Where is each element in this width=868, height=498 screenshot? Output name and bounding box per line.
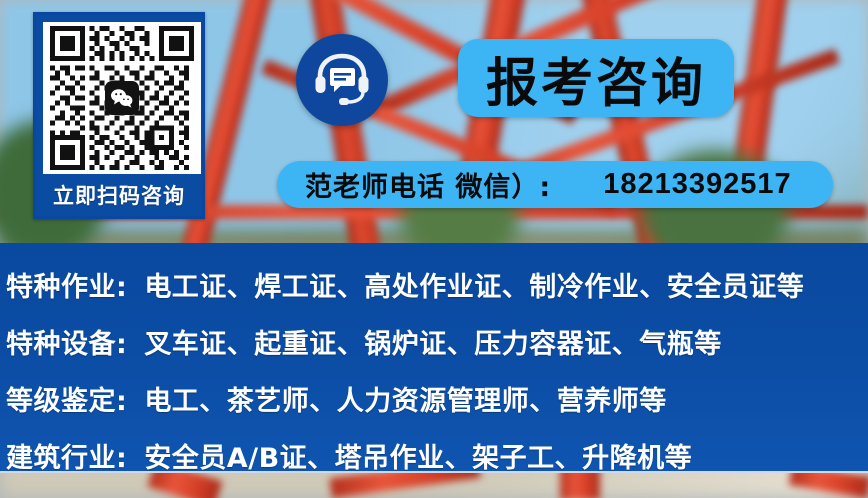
category-label: 特种作业: bbox=[6, 265, 127, 304]
category-items: 安全员A/B证、塔吊作业、架子工、升降机等 bbox=[144, 436, 692, 475]
consult-title-pill[interactable]: 报考咨询 bbox=[458, 39, 734, 117]
info-row-construction-industry: 建筑行业: 安全员A/B证、塔吊作业、架子工、升降机等 bbox=[0, 436, 868, 475]
category-label: 特种设备: bbox=[6, 322, 127, 361]
wechat-glyph bbox=[110, 88, 134, 108]
phone-label: 范老师电话 微信）: bbox=[305, 165, 551, 204]
category-items: 电工、茶艺师、人力资源管理师、营养师等 bbox=[144, 379, 667, 418]
info-row-special-operations: 特种作业: 电工证、焊工证、高处作业证、制冷作业、安全员证等 bbox=[0, 265, 868, 304]
category-items: 电工证、焊工证、高处作业证、制冷作业、安全员证等 bbox=[144, 265, 804, 304]
wechat-icon bbox=[105, 81, 139, 115]
info-row-grade-appraisal: 等级鉴定: 电工、茶艺师、人力资源管理师、营养师等 bbox=[0, 379, 868, 418]
customer-support-badge[interactable] bbox=[296, 34, 388, 126]
qr-code-image[interactable] bbox=[43, 22, 201, 174]
advertisement-banner: 立即扫码咨询 报考咨询 范老师电话 微信）: 18213392517 特种作业:… bbox=[0, 0, 868, 498]
headset-support-icon bbox=[313, 52, 371, 108]
qr-code-card[interactable]: 立即扫码咨询 bbox=[33, 12, 205, 219]
phone-contact-pill[interactable]: 范老师电话 微信）: 18213392517 bbox=[277, 161, 833, 208]
category-label: 等级鉴定: bbox=[6, 379, 127, 418]
category-items: 叉车证、起重证、锅炉证、压力容器证、气瓶等 bbox=[144, 322, 722, 361]
info-row-special-equipment: 特种设备: 叉车证、起重证、锅炉证、压力容器证、气瓶等 bbox=[0, 322, 868, 361]
category-label: 建筑行业: bbox=[6, 436, 127, 475]
phone-number: 18213392517 bbox=[603, 168, 791, 201]
qr-caption: 立即扫码咨询 bbox=[43, 174, 195, 216]
consult-title-label: 报考咨询 bbox=[486, 41, 706, 116]
certificate-list-panel: 特种作业: 电工证、焊工证、高处作业证、制冷作业、安全员证等 特种设备: 叉车证… bbox=[0, 243, 868, 473]
